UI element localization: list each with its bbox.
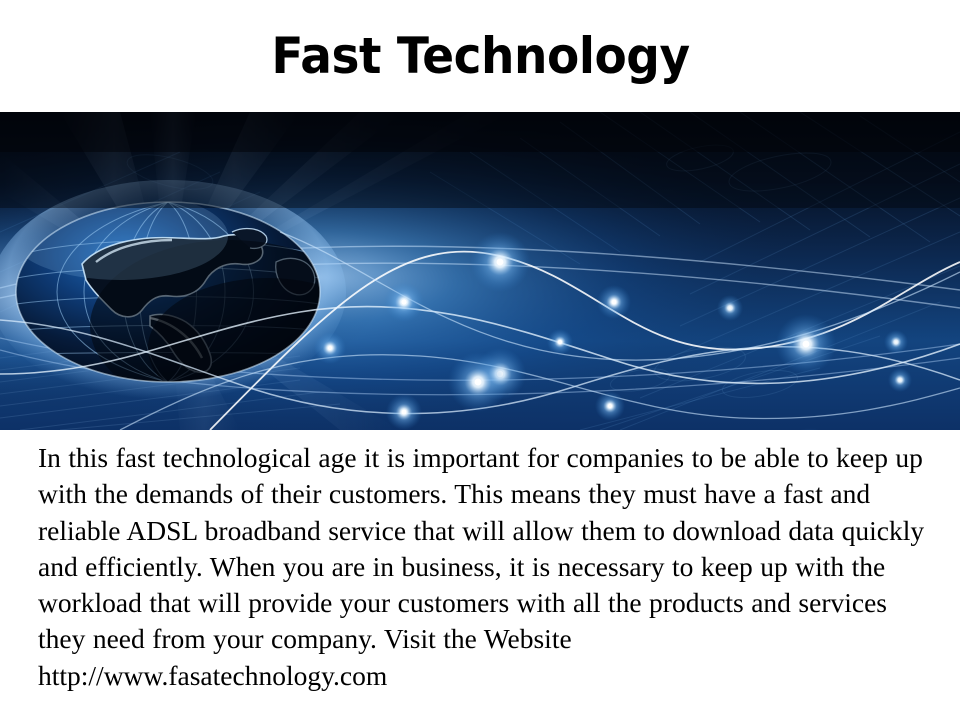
banner-illustration <box>0 112 960 430</box>
body-paragraph: In this fast technological age it is imp… <box>38 440 928 694</box>
body-area: In this fast technological age it is imp… <box>38 440 928 712</box>
slide: Fast Technology <box>0 0 960 720</box>
title-area: Fast Technology <box>0 0 960 112</box>
globe-network-banner <box>0 112 960 430</box>
page-title: Fast Technology <box>271 31 689 81</box>
